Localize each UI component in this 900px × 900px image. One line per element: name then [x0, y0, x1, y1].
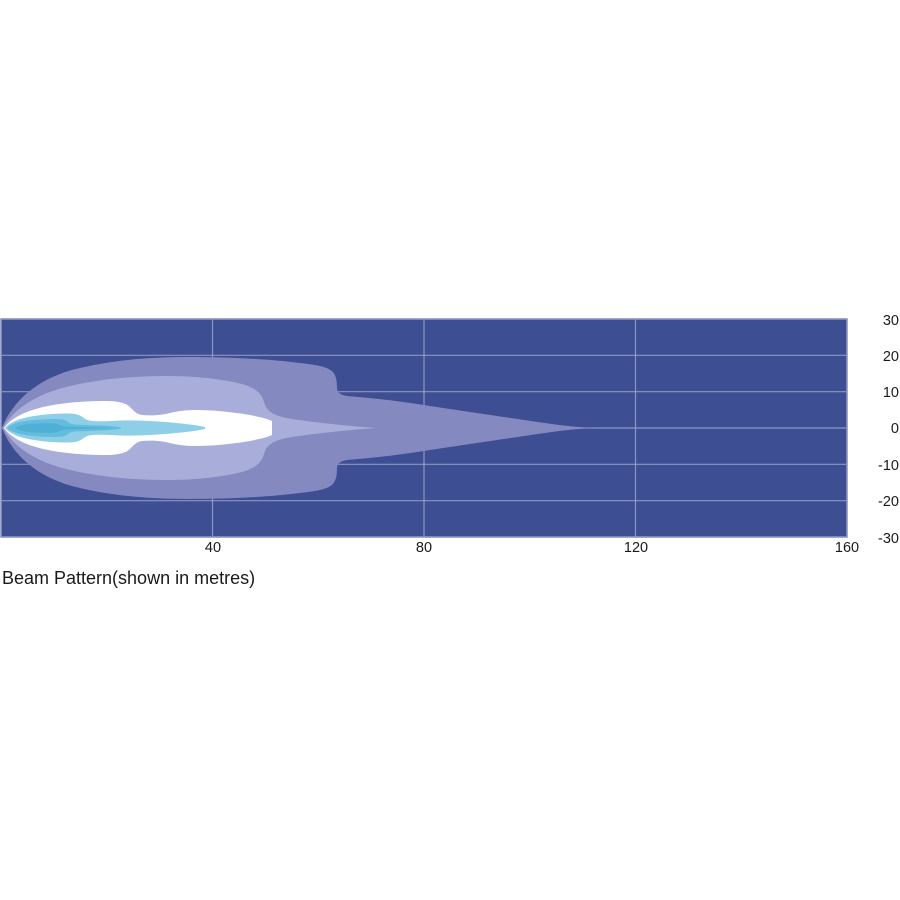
x-tick-label-120: 120 — [624, 540, 648, 556]
y-tick-label-neg30: -30 — [878, 531, 899, 547]
y-tick-label-20: 20 — [883, 349, 899, 365]
x-tick-label-80: 80 — [416, 540, 432, 556]
beam-pattern-chart: 30 20 10 0 -10 -20 -30 40 80 120 160 Bea… — [0, 0, 900, 900]
y-tick-label-30: 30 — [883, 313, 899, 329]
beam-pattern-title: Beam Pattern(shown in metres) — [2, 568, 255, 588]
y-tick-label-neg10: -10 — [878, 458, 899, 474]
y-tick-label-neg20: -20 — [878, 494, 899, 510]
y-tick-label-10: 10 — [883, 385, 899, 401]
y-tick-label-0: 0 — [891, 421, 899, 437]
x-tick-label-40: 40 — [205, 540, 221, 556]
x-tick-label-160: 160 — [835, 540, 859, 556]
plot-area — [1, 319, 847, 537]
